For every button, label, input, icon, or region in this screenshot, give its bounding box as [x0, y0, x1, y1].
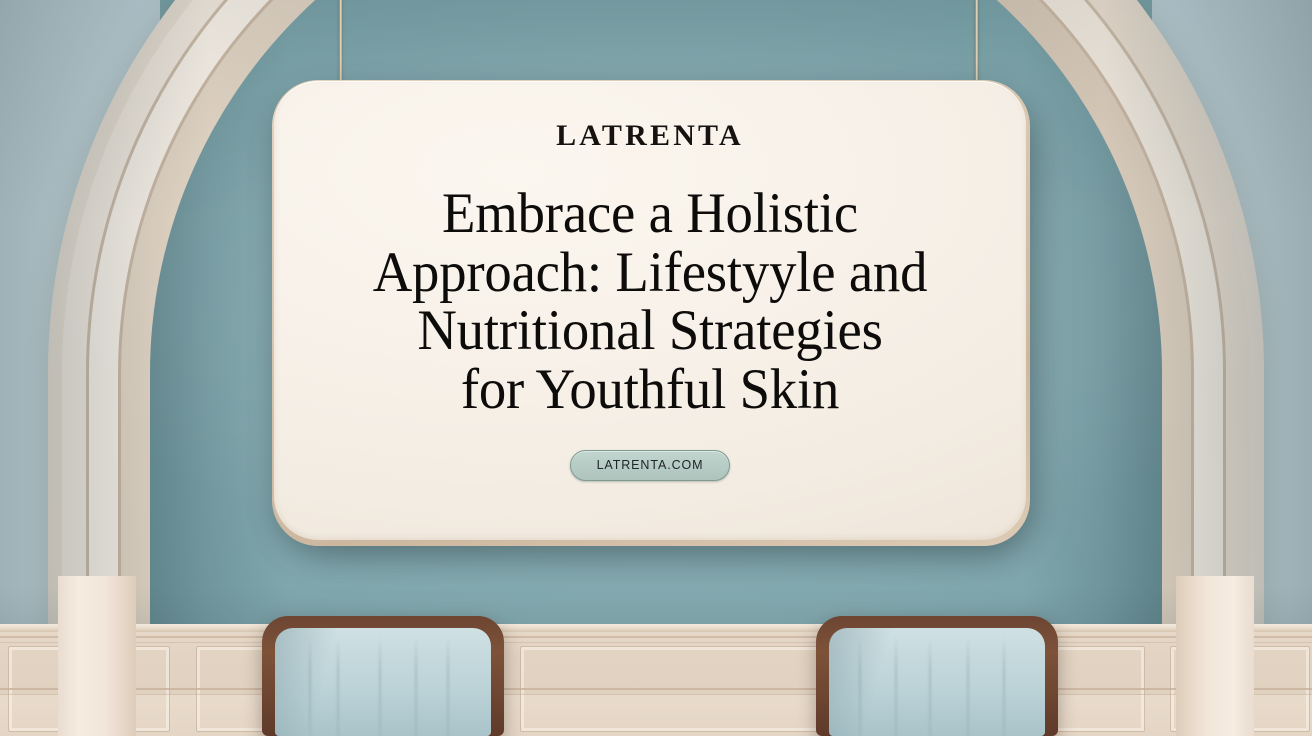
baseboard-line	[0, 688, 1312, 690]
hanging-rod-left	[339, 0, 342, 92]
sign-board: LATRENTA Embrace a Holistic Approach: Li…	[274, 81, 1026, 540]
chair-rail	[0, 624, 1312, 632]
headline-line-2: Approach: Lifestyyle and	[319, 244, 981, 303]
headline-line-4: for Youthful Skin	[319, 361, 981, 420]
chair-rail-line	[0, 642, 1312, 643]
chair-cushion	[829, 628, 1045, 736]
headline-line-3: Nutritional Strategies	[319, 302, 981, 361]
hanging-rod-right	[975, 0, 978, 88]
headline: Embrace a Holistic Approach: Lifestyyle …	[319, 185, 981, 420]
pilaster-left	[58, 576, 136, 736]
chair-right	[816, 616, 1058, 736]
baseboard-line	[0, 694, 1312, 695]
chair-cushion	[275, 628, 491, 736]
poster-scene: LATRENTA Embrace a Holistic Approach: Li…	[0, 0, 1312, 736]
chair-rail-line	[0, 636, 1312, 638]
pilaster-right	[1176, 576, 1254, 736]
website-cta-button[interactable]: LATRENTA.COM	[570, 450, 731, 481]
chair-left	[262, 616, 504, 736]
brand-wordmark: LATRENTA	[556, 121, 744, 151]
headline-line-1: Embrace a Holistic	[319, 185, 981, 244]
